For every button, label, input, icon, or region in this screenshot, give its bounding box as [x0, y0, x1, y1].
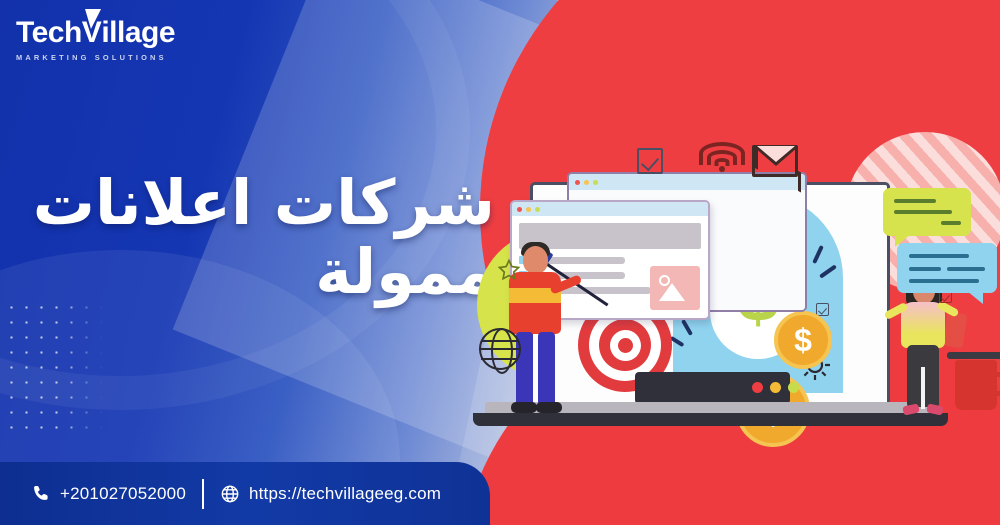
laptop-hinge-bar [635, 372, 790, 404]
browser-titlebar-front [512, 202, 708, 216]
chat-line [947, 267, 985, 271]
wifi-icon [698, 142, 746, 172]
target-ring-3 [599, 319, 651, 371]
footer-divider [202, 479, 204, 509]
phone-icon [32, 484, 51, 503]
man-leg-right [538, 332, 555, 406]
globe-illustration-icon [479, 328, 521, 370]
window-dot-yellow-icon [526, 207, 531, 212]
logo-word-tech: Tech [16, 16, 82, 49]
chat-line [941, 221, 961, 225]
window-dot-red-icon [517, 207, 522, 212]
window-dot-green-icon [593, 180, 598, 185]
coin-small: $ [774, 311, 832, 369]
woman-folder [942, 312, 967, 349]
laptop-led-red [752, 382, 763, 393]
phone-number: +201027052000 [60, 484, 186, 504]
image-placeholder-icon [650, 266, 700, 310]
man-shoe-left [511, 402, 537, 413]
woman-shoe-right [926, 403, 944, 415]
chat-line [909, 254, 969, 258]
chat-bubble-yellow [883, 188, 971, 236]
star-icon [497, 258, 521, 282]
website-url: https://techvillageeg.com [249, 484, 441, 504]
footer-website[interactable]: https://techvillageeg.com [220, 484, 441, 504]
globe-latitude-2 [481, 358, 518, 360]
dot-grid-pattern [4, 300, 104, 435]
envelope-icon [752, 145, 798, 177]
chat-line [894, 199, 936, 203]
window-dot-red-icon [575, 180, 580, 185]
woman-shoe-left [902, 403, 920, 415]
logo-tagline: MARKETING SOLUTIONS [16, 53, 166, 62]
headline-line-2: ممولة [33, 237, 495, 306]
window-dot-yellow-icon [584, 180, 589, 185]
woman-leg-split [921, 367, 925, 409]
logo-wordmark: TechVillage [16, 18, 166, 48]
logo-word-illage: illage [101, 16, 175, 49]
headline-line-1: شركات اعلانات [33, 166, 495, 239]
target-ring-4 [610, 330, 641, 361]
laptop-led-green [788, 382, 799, 393]
globe-latitude-1 [481, 340, 518, 342]
poster-canvas: TechVillage MARKETING SOLUTIONS شركات اع… [0, 0, 1000, 525]
chat-bubble-blue [897, 243, 997, 293]
hero-illustration: $ $ [455, 120, 1000, 450]
globe-icon [220, 484, 240, 504]
page-title: شركات اعلانات ممولة [33, 168, 495, 307]
logo-v-mark: V [82, 16, 102, 49]
window-dot-green-icon [535, 207, 540, 212]
man-shoe-right [536, 402, 562, 413]
chat-line [909, 279, 979, 283]
desk-shelf [947, 352, 1000, 359]
coin-small-symbol: $ [794, 322, 812, 359]
chat-line [894, 210, 952, 214]
envelope-flap [754, 147, 798, 166]
laptop-led-yellow [770, 382, 781, 393]
man-head [523, 246, 548, 274]
coffee-mug [955, 360, 997, 410]
chat-line [909, 267, 941, 271]
target-center [618, 338, 633, 353]
footer-phone[interactable]: +201027052000 [32, 484, 186, 504]
contact-footer-bar: +201027052000 https://techvillageeg.com [0, 462, 490, 525]
brand-logo[interactable]: TechVillage MARKETING SOLUTIONS [16, 18, 166, 62]
checkbox-icon [637, 148, 663, 174]
checkbox-small-icon [816, 303, 829, 316]
